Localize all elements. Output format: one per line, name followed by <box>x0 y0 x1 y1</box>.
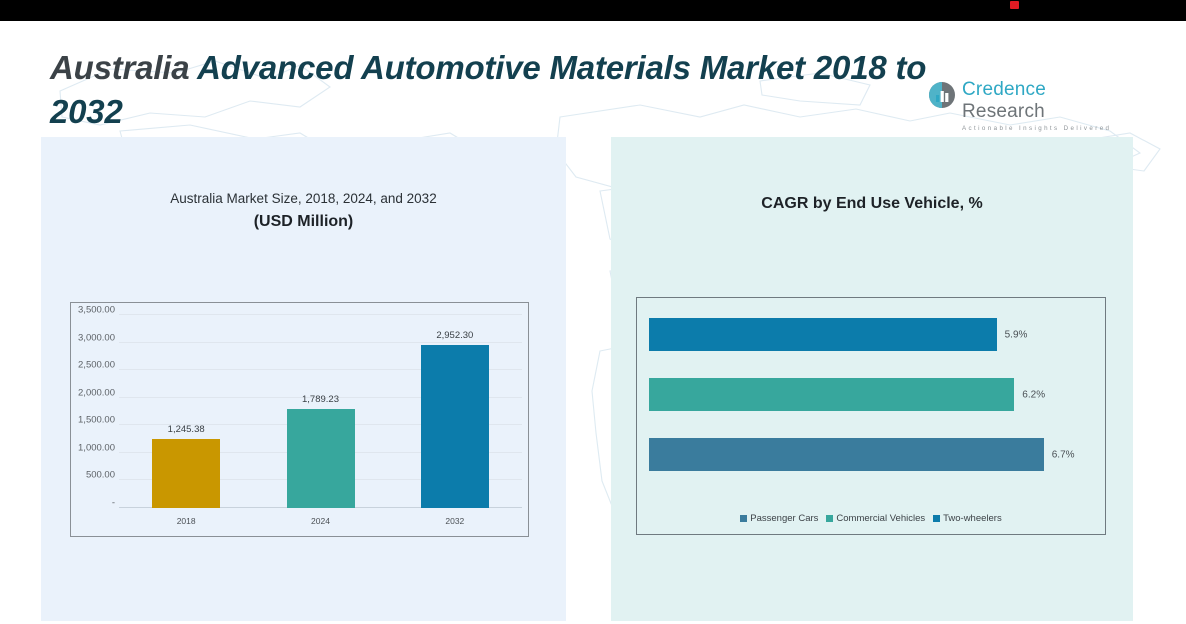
legend-swatch-icon <box>740 515 747 522</box>
legend-label: Passenger Cars <box>750 513 818 524</box>
status-dot-icon <box>1010 1 1019 9</box>
header: Australia Advanced Automotive Materials … <box>0 21 1186 137</box>
x-axis-tick-label: 2032 <box>445 516 464 526</box>
brand-name-part1: Credence <box>962 79 1046 100</box>
y-axis-tick-label: - <box>71 498 115 509</box>
market-size-chart-subtitle: (USD Million) <box>41 213 566 231</box>
brand-name-part2: Research <box>962 101 1045 122</box>
bar-value-label: 1,245.38 <box>168 424 205 435</box>
legend-label: Commercial Vehicles <box>836 513 925 524</box>
gridline <box>119 342 522 343</box>
credence-logo-icon <box>928 81 956 109</box>
infographic-canvas: Australia Advanced Automotive Materials … <box>0 0 1186 624</box>
cagr-chart-title: CAGR by End Use Vehicle, % <box>611 195 1133 213</box>
bar-value-label: 2,952.30 <box>436 330 473 341</box>
y-axis-tick-label: 500.00 <box>71 470 115 481</box>
bar <box>287 409 355 508</box>
bar-value-label: 1,789.23 <box>302 394 339 405</box>
top-bar <box>0 0 1186 21</box>
y-axis-tick-label: 3,500.00 <box>71 305 115 316</box>
brand-tagline: Actionable Insights Delivered <box>962 124 1113 133</box>
legend-item: Commercial Vehicles <box>826 513 925 524</box>
y-axis-tick-label: 1,000.00 <box>71 442 115 453</box>
brand-logo-text: Credence Research Actionable Insights De… <box>962 79 1113 133</box>
legend-label: Two-wheelers <box>943 513 1002 524</box>
x-axis-tick-label: 2018 <box>177 516 196 526</box>
bar <box>421 345 489 508</box>
x-axis-tick-label: 2024 <box>311 516 330 526</box>
y-axis-tick-label: 2,000.00 <box>71 387 115 398</box>
legend-item: Passenger Cars <box>740 513 818 524</box>
legend-swatch-icon <box>826 515 833 522</box>
gridline <box>119 314 522 315</box>
bar-value-label: 6.2% <box>1022 389 1045 400</box>
brand-name: Credence Research <box>962 79 1113 123</box>
y-axis-tick-label: 3,000.00 <box>71 332 115 343</box>
legend-item: Two-wheelers <box>933 513 1002 524</box>
bar-value-label: 6.7% <box>1052 449 1075 460</box>
market-size-plot-area: -500.001,000.001,500.002,000.002,500.003… <box>70 302 529 537</box>
bar <box>649 438 1044 471</box>
bar-value-label: 5.9% <box>1005 329 1028 340</box>
bar <box>152 439 220 508</box>
brand-logo: Credence Research Actionable Insights De… <box>928 80 1113 116</box>
y-axis-tick-label: 2,500.00 <box>71 360 115 371</box>
legend-swatch-icon <box>933 515 940 522</box>
cagr-legend: Passenger CarsCommercial VehiclesTwo-whe… <box>637 513 1105 524</box>
slide-canvas: Australia Advanced Automotive Materials … <box>0 21 1186 624</box>
page-title: Australia Advanced Automotive Materials … <box>50 46 930 134</box>
market-size-chart-title: Australia Market Size, 2018, 2024, and 2… <box>41 191 566 206</box>
page-title-plain: Australia <box>50 49 197 86</box>
cagr-plot-area: 5.9%6.2%6.7% Passenger CarsCommercial Ve… <box>636 297 1106 535</box>
bar <box>649 318 997 351</box>
y-axis-tick-label: 1,500.00 <box>71 415 115 426</box>
bar <box>649 378 1014 411</box>
